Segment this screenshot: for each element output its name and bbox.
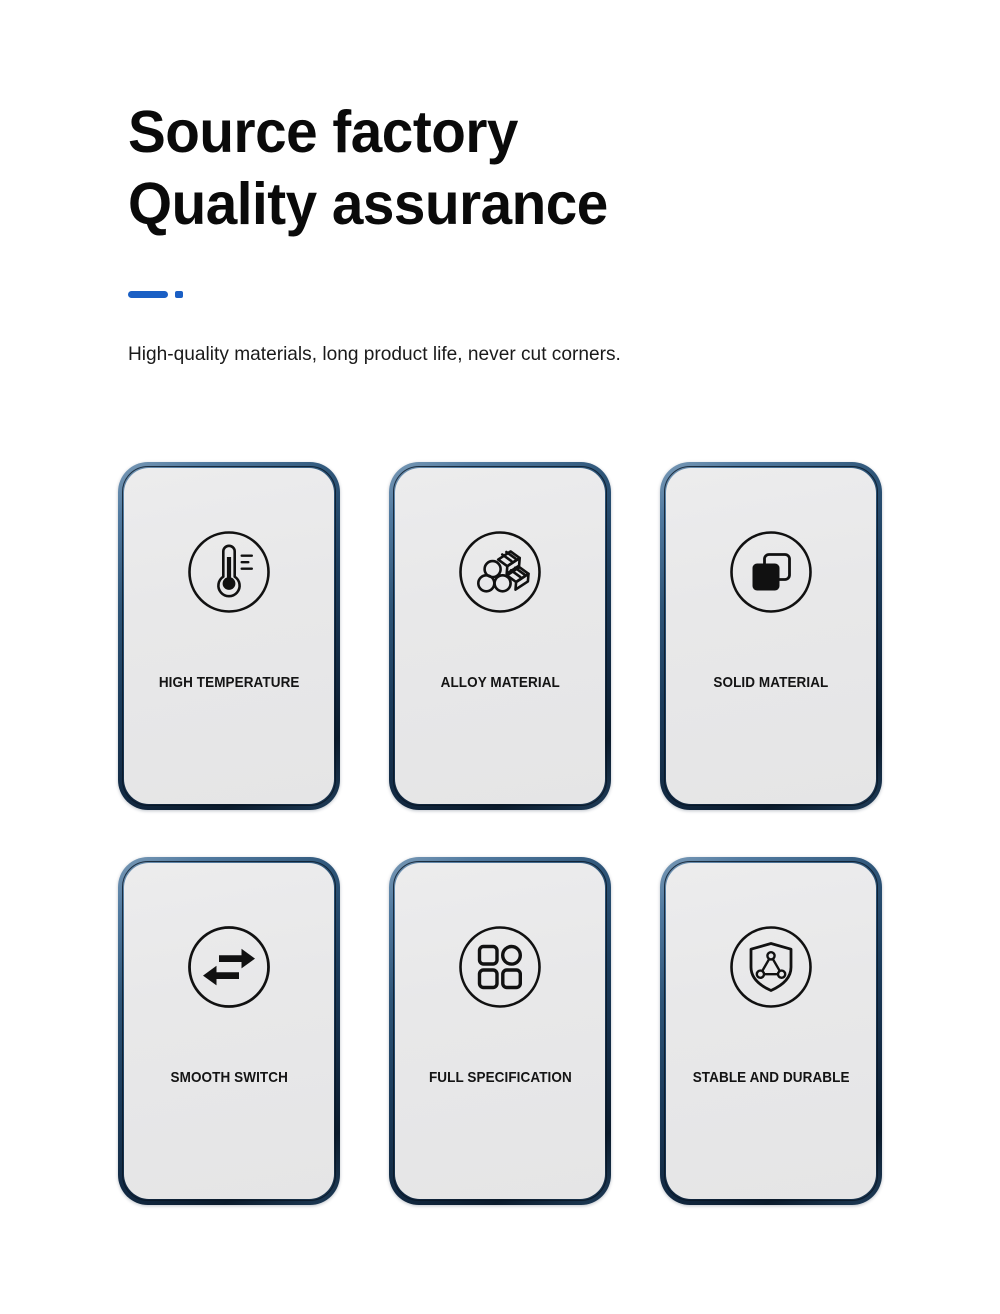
grid-specification-icon (458, 925, 542, 1009)
metal-bars-icon (458, 530, 542, 614)
page-title: Source factory Quality assurance (128, 96, 896, 240)
feature-card-inner: SOLID MATERIAL (666, 468, 876, 804)
thermometer-icon (187, 530, 271, 614)
title-divider (128, 290, 928, 298)
feature-card-inner: STABLE AND DURABLE (666, 863, 876, 1199)
feature-card[interactable]: FULL SPECIFICATION (389, 857, 611, 1205)
shield-triangle-icon (729, 925, 813, 1009)
feature-card-inner: HIGH TEMPERATURE (124, 468, 334, 804)
page-header: Source factory Quality assurance High-qu… (128, 96, 928, 367)
feature-card[interactable]: SOLID MATERIAL (660, 462, 882, 810)
feature-card-inner: FULL SPECIFICATION (395, 863, 605, 1199)
divider-bar (128, 291, 168, 298)
feature-card-grid: HIGH TEMPERATURE (118, 462, 882, 1205)
feature-card[interactable]: ALLOY MATERIAL (389, 462, 611, 810)
feature-card-inner: ALLOY MATERIAL (395, 468, 605, 804)
feature-card-label: SOLID MATERIAL (713, 674, 828, 691)
feature-card-inner: SMOOTH SWITCH (124, 863, 334, 1199)
feature-card-label: SMOOTH SWITCH (170, 1069, 287, 1086)
bidirectional-arrows-icon (187, 925, 271, 1009)
feature-card-label: FULL SPECIFICATION (429, 1069, 572, 1086)
promo-feature-page: Source factory Quality assurance High-qu… (0, 0, 1000, 1314)
feature-card[interactable]: STABLE AND DURABLE (660, 857, 882, 1205)
feature-card-label: ALLOY MATERIAL (440, 674, 559, 691)
page-subtitle: High-quality materials, long product lif… (128, 341, 912, 367)
page-title-line-2: Quality assurance (128, 168, 896, 240)
feature-card-label: STABLE AND DURABLE (693, 1069, 850, 1086)
page-title-line-1: Source factory (128, 96, 896, 168)
feature-card[interactable]: SMOOTH SWITCH (118, 857, 340, 1205)
solid-blocks-icon (729, 530, 813, 614)
feature-card[interactable]: HIGH TEMPERATURE (118, 462, 340, 810)
feature-card-label: HIGH TEMPERATURE (159, 674, 300, 691)
divider-dot (175, 291, 183, 298)
